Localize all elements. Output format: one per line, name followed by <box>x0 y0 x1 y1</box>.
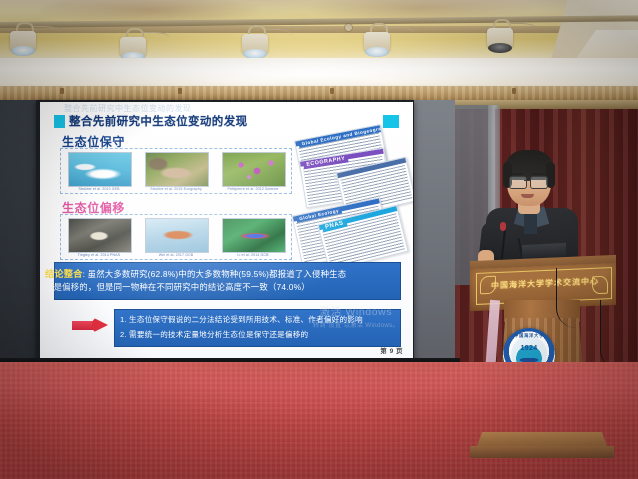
flower-photo-caption: Petitpierre et al. 2012 Science <box>220 187 286 191</box>
conclusion-label: 结论整合 <box>45 269 83 279</box>
title-marker-left-icon <box>54 115 65 128</box>
glasses-lens-right-icon <box>530 176 548 189</box>
wall-grey-panel <box>413 100 459 362</box>
bird-photo <box>68 152 132 187</box>
otter-photo-caption: Strubbe et al. 2015 Ecography <box>143 187 209 191</box>
flower-photo <box>222 152 286 187</box>
frog-photo <box>68 218 132 253</box>
bullet-item-2: 2. 需要统一的技术定量地分析生态位是保守还是偏移的 <box>120 329 308 340</box>
spotlight-1 <box>8 22 38 56</box>
valance-fitting <box>178 88 182 94</box>
watermark-line-1: 激活 Windows <box>313 304 399 319</box>
university-seal-cn-text: 中国海洋大学 <box>505 333 553 339</box>
university-seal-year: 1924 <box>511 345 547 352</box>
slide-ghost-text: 整合先前研究中生态位变动的发现 <box>64 103 364 112</box>
presentation-hall-photo: 整合先前研究中生态位变动的发现 整合先前研究中生态位变动的发现 生态位保守 St… <box>0 0 638 479</box>
otter-photo <box>145 152 209 187</box>
red-arrow-icon <box>72 317 108 333</box>
carpet-light-falloff <box>0 362 638 422</box>
valance-fitting <box>60 88 64 94</box>
fish-photo-caption: Li et al. 2014 GCB <box>220 253 286 257</box>
spotlight-3 <box>240 25 270 59</box>
slide-title: 整合先前研究中生态位变动的发现 <box>69 113 248 129</box>
watermark-line-2: 转到"设置"以激活 Windows。 <box>313 320 399 329</box>
podium-cable <box>556 268 597 328</box>
conclusion-line-1: 结论整合: 虽然大多数研究(62.8%)中的大多数物种(59.5%)都报道了入侵… <box>45 266 385 280</box>
spotlight-4 <box>362 23 392 57</box>
spotlight-5 <box>485 19 515 53</box>
slide-page-number: 第 9 页 <box>380 345 403 355</box>
speaker-shirt <box>524 212 537 234</box>
frog-photo-caption: Tingley et al. 2014 PNAS <box>66 253 132 257</box>
podium-cable-secondary <box>600 300 621 370</box>
shrimp-photo-caption: Wei et al. 2017 GCB <box>143 253 209 257</box>
podium-base-plinth <box>470 446 614 458</box>
ceiling-soffit <box>0 26 638 33</box>
glasses-bridge-icon <box>524 180 531 181</box>
wall-left-dark-panel <box>0 100 40 360</box>
spotlight-2 <box>118 28 148 62</box>
valance-fitting <box>512 88 516 94</box>
microphone-head-icon <box>500 222 506 231</box>
shrimp-photo <box>145 218 209 253</box>
sprinkler-head-icon <box>345 24 352 31</box>
speaker-mouth <box>521 194 534 198</box>
valance-fitting <box>330 88 334 94</box>
speaker-brow-right <box>532 173 545 175</box>
projected-slide: 整合先前研究中生态位变动的发现 整合先前研究中生态位变动的发现 生态位保守 St… <box>40 102 413 359</box>
slide-title-row: 整合先前研究中生态位变动的发现 <box>54 113 399 129</box>
fish-photo <box>222 218 286 253</box>
conclusion-text-1: : 虽然大多数研究(62.8%)中的大多数物种(59.5%)都报道了入侵种生态 <box>83 269 347 279</box>
conclusion-line-2: 位是偏移的，但是同一物种在不同研究中的结论高度不一致（74.0%） <box>45 281 385 293</box>
windows-activation-watermark: 激活 Windows 转到"设置"以激活 Windows。 <box>313 304 399 329</box>
bird-photo-caption: Strubbe et al. 2013 GEB <box>66 187 132 191</box>
speaker-brow-left <box>510 173 523 175</box>
title-marker-right-icon <box>383 115 399 128</box>
glasses-lens-left-icon <box>509 176 527 189</box>
